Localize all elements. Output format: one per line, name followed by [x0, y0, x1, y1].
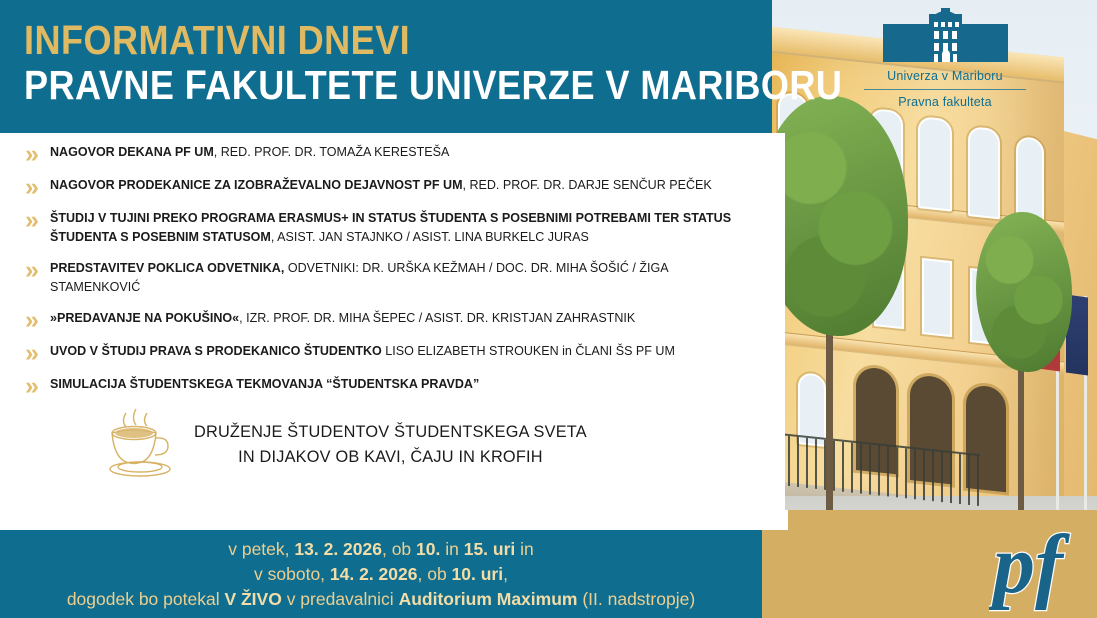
- pf-monogram-icon: pf: [989, 520, 1079, 612]
- logo-divider: [864, 89, 1026, 90]
- double-chevron-icon: »: [10, 209, 50, 229]
- list-item: » NAGOVOR PRODEKANICE ZA IZOBRAŽEVALNO D…: [10, 176, 771, 196]
- footer-floor: (II. nadstropje): [577, 589, 695, 609]
- footer-venue: Auditorium Maximum: [399, 589, 578, 609]
- footer-time-1: 10.: [416, 539, 440, 559]
- footer-text: v petek,: [228, 539, 294, 559]
- window: [918, 116, 952, 212]
- window: [922, 258, 952, 337]
- footer-time-3: 10. uri: [452, 564, 504, 584]
- footer-line-3: dogodek bo potekal V ŽIVO v predavalnici…: [67, 587, 695, 612]
- double-chevron-icon: »: [10, 342, 50, 362]
- social-line-1: DRUŽENJE ŠTUDENTOV ŠTUDENTSKEGA SVETA: [194, 419, 587, 444]
- list-item-bold: »PREDAVANJE NA POKUŠINO«: [50, 310, 239, 325]
- footer-text: , ob: [417, 564, 451, 584]
- list-item: » SIMULACIJA ŠTUDENTSKEGA TEKMOVANJA “ŠT…: [10, 375, 771, 395]
- list-item: » UVOD V ŠTUDIJ PRAVA S PRODEKANICO ŠTUD…: [10, 342, 771, 362]
- list-item-text: NAGOVOR PRODEKANICE ZA IZOBRAŽEVALNO DEJ…: [50, 176, 735, 195]
- list-item-bold: NAGOVOR PRODEKANICE ZA IZOBRAŽEVALNO DEJ…: [50, 177, 463, 192]
- list-item: » »PREDAVANJE NA POKUŠINO«, IZR. PROF. D…: [10, 309, 771, 329]
- page-title: INFORMATIVNI DNEVI PRAVNE FAKULTETE UNIV…: [24, 18, 954, 108]
- double-chevron-icon: »: [10, 176, 50, 196]
- footer-live-label: V ŽIVO: [224, 589, 281, 609]
- list-item: » PREDSTAVITEV POKLICA ODVETNIKA, ODVETN…: [10, 259, 771, 296]
- university-logo: Univerza v Mariboru Pravna fakulteta: [855, 8, 1035, 109]
- header-banner: INFORMATIVNI DNEVI PRAVNE FAKULTETE UNIV…: [0, 0, 772, 133]
- window: [968, 126, 1000, 219]
- list-item-bold: PREDSTAVITEV POKLICA ODVETNIKA,: [50, 260, 284, 275]
- university-building-icon: [883, 8, 1008, 66]
- footer-text: in: [515, 539, 533, 559]
- list-item-rest: , ASIST. JAN STAJNKO / ASIST. LINA BURKE…: [271, 229, 589, 244]
- footer-text: dogodek bo potekal: [67, 589, 225, 609]
- footer-time-2: 15. uri: [464, 539, 516, 559]
- list-item-text: NAGOVOR DEKANA PF UM, RED. PROF. DR. TOM…: [50, 143, 735, 162]
- program-list: » NAGOVOR DEKANA PF UM, RED. PROF. DR. T…: [0, 133, 785, 530]
- list-item-bold: UVOD V ŠTUDIJ PRAVA S PRODEKANICO ŠTUDEN…: [50, 343, 382, 358]
- panel-notch: [762, 510, 788, 530]
- logo-university-name: Univerza v Mariboru: [855, 69, 1035, 83]
- logo-faculty-name: Pravna fakulteta: [855, 95, 1035, 109]
- list-item-bold: SIMULACIJA ŠTUDENTSKEGA TEKMOVANJA “ŠTUD…: [50, 376, 479, 391]
- footer-line-1: v petek, 13. 2. 2026, ob 10. in 15. uri …: [228, 537, 534, 562]
- footer-text: v predavalnici: [282, 589, 399, 609]
- footer-date-2: 14. 2. 2026: [330, 564, 418, 584]
- coffee-cup-icon: [100, 407, 186, 481]
- list-item: » ŠTUDIJ V TUJINI PREKO PROGRAMA ERASMUS…: [10, 209, 771, 246]
- footer-line-2: v soboto, 14. 2. 2026, ob 10. uri,: [254, 562, 508, 587]
- list-item: » NAGOVOR DEKANA PF UM, RED. PROF. DR. T…: [10, 143, 771, 163]
- title-line-2: PRAVNE FAKULTETE UNIVERZE V MARIBORU: [24, 62, 842, 108]
- list-item-text: UVOD V ŠTUDIJ PRAVA S PRODEKANICO ŠTUDEN…: [50, 342, 735, 361]
- footer-text: ,: [503, 564, 508, 584]
- footer-text: , ob: [382, 539, 416, 559]
- list-item-bold: NAGOVOR DEKANA PF UM: [50, 144, 214, 159]
- list-item-rest: , RED. PROF. DR. DARJE SENČUR PEČEK: [463, 177, 712, 192]
- social-gathering: DRUŽENJE ŠTUDENTOV ŠTUDENTSKEGA SVETA IN…: [10, 407, 771, 481]
- list-item-text: ŠTUDIJ V TUJINI PREKO PROGRAMA ERASMUS+ …: [50, 209, 735, 246]
- social-line-2: IN DIJAKOV OB KAVI, ČAJU IN KROFIH: [194, 444, 587, 469]
- social-gathering-text: DRUŽENJE ŠTUDENTOV ŠTUDENTSKEGA SVETA IN…: [194, 419, 587, 469]
- list-item-rest: LISO ELIZABETH STROUKEN in ČLANI ŠS PF U…: [382, 343, 675, 358]
- list-item-text: PREDSTAVITEV POKLICA ODVETNIKA, ODVETNIK…: [50, 259, 735, 296]
- svg-text:pf: pf: [989, 520, 1070, 611]
- list-item-text: »PREDAVANJE NA POKUŠINO«, IZR. PROF. DR.…: [50, 309, 735, 328]
- footer-date-1: 13. 2. 2026: [294, 539, 382, 559]
- brand-panel: pf: [762, 510, 1097, 618]
- footer-text: in: [440, 539, 463, 559]
- double-chevron-icon: »: [10, 375, 50, 395]
- list-item-text: SIMULACIJA ŠTUDENTSKEGA TEKMOVANJA “ŠTUD…: [50, 375, 735, 394]
- footer-text: v soboto,: [254, 564, 330, 584]
- double-chevron-icon: »: [10, 309, 50, 329]
- title-line-1: INFORMATIVNI DNEVI: [24, 18, 842, 62]
- double-chevron-icon: »: [10, 259, 50, 279]
- footer-details: v petek, 13. 2. 2026, ob 10. in 15. uri …: [0, 530, 762, 618]
- list-item-rest: , RED. PROF. DR. TOMAŽA KERESTEŠA: [214, 144, 450, 159]
- double-chevron-icon: »: [10, 143, 50, 163]
- list-item-rest: , IZR. PROF. DR. MIHA ŠEPEC / ASIST. DR.…: [239, 310, 635, 325]
- tree-canopy: [976, 212, 1072, 372]
